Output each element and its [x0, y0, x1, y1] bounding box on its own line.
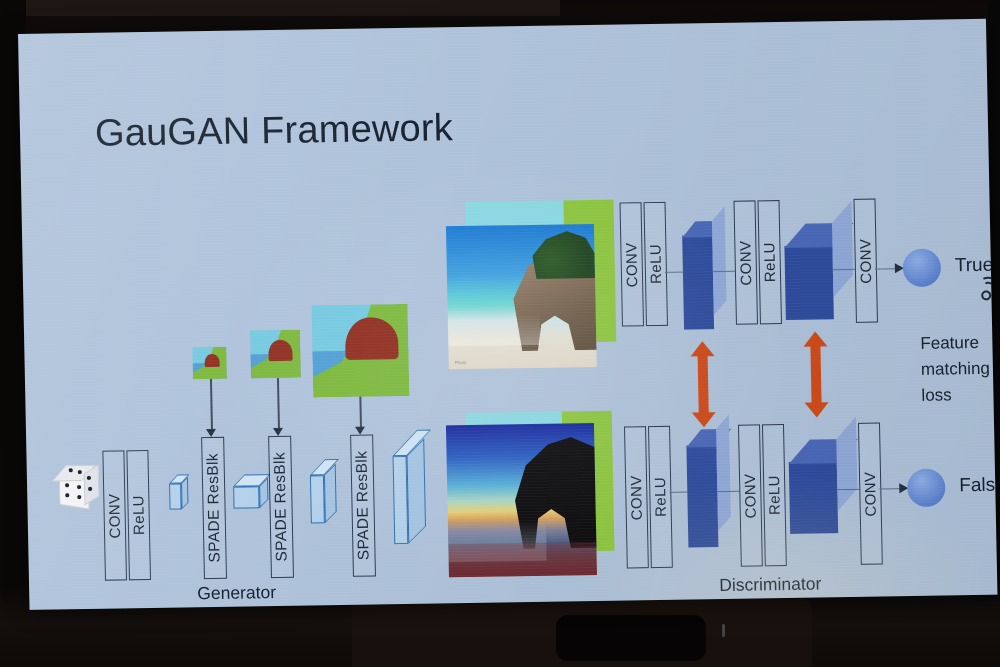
disc-top-conv-1[interactable]: CONV: [620, 202, 644, 326]
disc-bottom-wire-2: [717, 491, 739, 493]
segmap-small-arrow: [206, 429, 216, 437]
ceiling-beam: [0, 0, 560, 16]
feature-matching-loss-line3: loss: [921, 385, 952, 405]
generator-feature-volume-1: [169, 483, 182, 509]
spade-resblk-2-label: SPADE ResBlk: [271, 452, 291, 562]
feature-matching-loss-line1: Feature: [920, 333, 979, 354]
disc-top-conv-3[interactable]: CONV: [853, 199, 877, 323]
false-label: False: [959, 475, 997, 498]
feature-matching-arrow-2: [802, 331, 830, 417]
disc-top-feature-volume-1: [682, 221, 714, 329]
disc-bottom-conv-2[interactable]: CONV: [738, 424, 763, 566]
disc-bottom-relu-2-label: ReLU: [766, 475, 784, 515]
disc-top-conv-2-label: CONV: [737, 240, 755, 285]
generator-conv-label: CONV: [106, 493, 124, 538]
false-output-circle: [907, 468, 946, 507]
disc-top-conv-3-label: CONV: [857, 238, 875, 283]
disc-top-relu-1-label: ReLU: [647, 244, 665, 284]
slide-content: GauGAN Framework CONV ReLU: [18, 19, 997, 610]
projection-screen: GauGAN Framework CONV ReLU: [18, 19, 997, 610]
feature-matching-loss-line2: matching: [921, 359, 990, 380]
generated-photo: [446, 423, 597, 577]
generator-relu-label: ReLU: [130, 495, 148, 535]
disc-top-wire-4: [875, 268, 897, 270]
disc-bottom-relu-1-label: ReLU: [652, 477, 670, 517]
segmap-large: [312, 304, 410, 397]
disc-top-feature-volume-2: [784, 223, 834, 320]
generator-feature-volume-3: [310, 475, 325, 523]
disc-top-conv-2[interactable]: CONV: [733, 200, 757, 324]
disc-bottom-feature-volume-2: [788, 439, 838, 534]
generator-spade-resblk-1[interactable]: SPADE ResBlk: [201, 437, 227, 579]
disc-bottom-conv-2-label: CONV: [741, 473, 759, 518]
real-photo: Photo: [446, 224, 597, 369]
av-device-led: [722, 624, 725, 637]
generator-spade-resblk-3[interactable]: SPADE ResBlk: [350, 434, 376, 576]
disc-bottom-relu-1[interactable]: ReLU: [648, 426, 673, 568]
generator-conv-block[interactable]: CONV: [102, 450, 127, 580]
disc-bottom-conv-1-label: CONV: [627, 475, 645, 520]
generator-relu-block[interactable]: ReLU: [126, 450, 151, 580]
disc-bottom-wire-4: [879, 488, 901, 490]
av-device-slot: [556, 615, 706, 661]
segmap-medium-wire: [277, 378, 280, 432]
disc-bottom-relu-2[interactable]: ReLU: [762, 424, 787, 566]
generator-feature-volume-2: [233, 486, 259, 508]
disc-top-relu-1[interactable]: ReLU: [644, 202, 668, 326]
generator-spade-resblk-2[interactable]: SPADE ResBlk: [268, 436, 294, 578]
disc-bottom-conv-3[interactable]: CONV: [858, 423, 883, 565]
spade-resblk-1-label: SPADE ResBlk: [204, 453, 224, 563]
segmap-medium: [250, 330, 301, 379]
disc-bottom-feature-volume-1: [686, 429, 718, 547]
generator-caption: Generator: [197, 582, 276, 604]
segmap-large-arrow: [355, 427, 365, 435]
disc-top-relu-2[interactable]: ReLU: [757, 200, 781, 324]
discriminator-caption: Discriminator: [719, 573, 822, 596]
true-label: True: [955, 255, 994, 278]
true-output-circle: [902, 249, 941, 288]
disc-top-wire-2: [713, 271, 735, 273]
segmap-large-wire: [359, 397, 361, 431]
generator-feature-volume-4: [393, 456, 409, 544]
disc-bottom-conv-1[interactable]: CONV: [624, 426, 649, 568]
page-title: GauGAN Framework: [95, 107, 454, 156]
disc-top-conv-1-label: CONV: [623, 242, 641, 287]
segmap-medium-arrow: [273, 428, 283, 436]
segmap-small-wire: [210, 379, 213, 433]
segmap-small: [192, 347, 227, 380]
disc-bottom-conv-3-label: CONV: [861, 471, 879, 516]
dice-icon: [53, 465, 100, 510]
disc-bottom-wire-3: [837, 489, 859, 491]
disc-top-relu-2-label: ReLU: [761, 242, 779, 282]
spade-resblk-3-label: SPADE ResBlk: [353, 451, 373, 561]
photo-of-projected-slide: GauGAN Framework CONV ReLU: [0, 0, 1000, 667]
feature-matching-arrow-1: [689, 341, 717, 427]
